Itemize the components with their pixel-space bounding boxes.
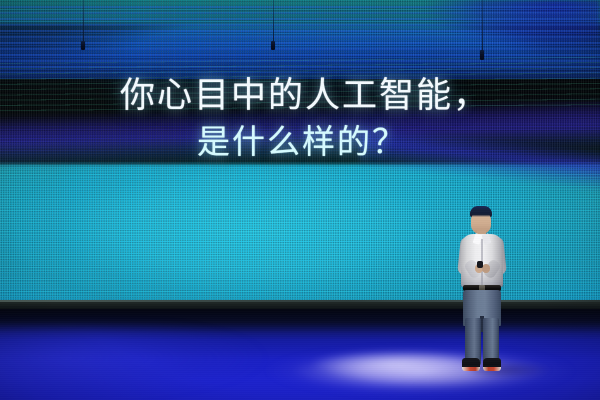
presenter-hair-fringe — [470, 209, 492, 217]
presenter — [452, 206, 522, 371]
presentation-clicker — [477, 261, 483, 268]
rig-cable-2 — [273, 0, 274, 43]
presenter-right-hand — [482, 264, 490, 273]
rig-microphone-1 — [81, 41, 85, 50]
rig-cable-1 — [83, 0, 84, 43]
led-aqua-blob-core — [12, 158, 528, 303]
rig-microphone-3 — [480, 50, 484, 60]
led-blue-top-right — [396, 0, 600, 55]
rig-cable-3 — [482, 0, 483, 52]
presenter-left-shoe-sole — [462, 367, 480, 371]
rig-microphone-2 — [271, 41, 275, 50]
presenter-right-shoe-sole — [483, 367, 501, 371]
stage-photograph: 你心目中的人工智能， 是什么样的？ — [0, 0, 600, 400]
